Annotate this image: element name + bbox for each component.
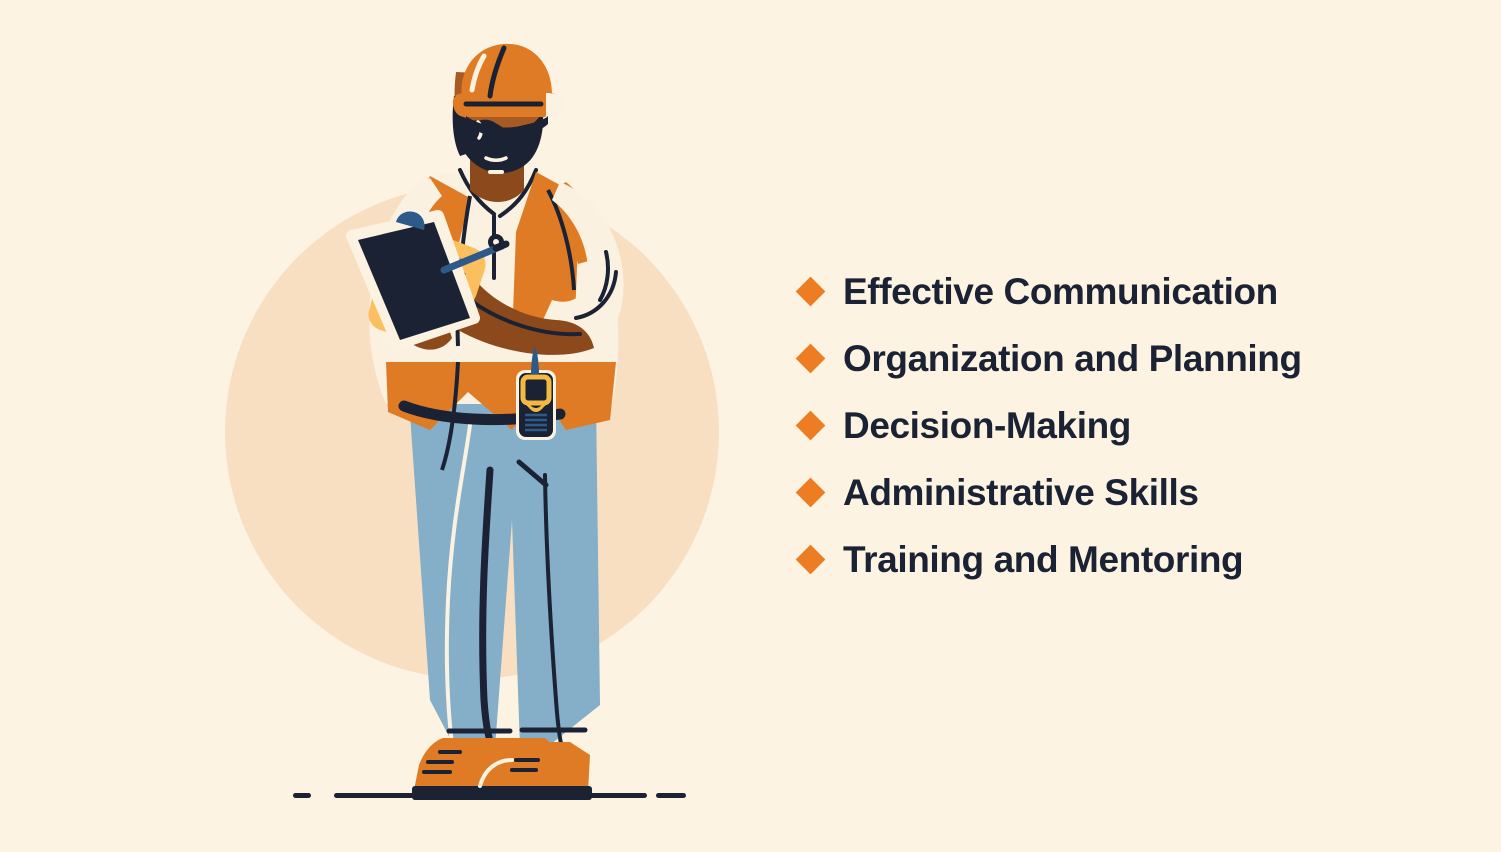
diamond-bullet-icon — [796, 478, 826, 508]
construction-supervisor-illustration — [0, 0, 760, 852]
skills-list: Effective Communication Organization and… — [800, 258, 1460, 593]
skill-label: Training and Mentoring — [843, 541, 1243, 578]
skill-label: Effective Communication — [843, 273, 1278, 310]
list-item[interactable]: Organization and Planning — [800, 325, 1460, 392]
diamond-bullet-icon — [796, 344, 826, 374]
work-boots — [412, 738, 592, 800]
list-item[interactable]: Training and Mentoring — [800, 526, 1460, 593]
list-item[interactable]: Administrative Skills — [800, 459, 1460, 526]
skill-label: Decision-Making — [843, 407, 1131, 444]
list-item[interactable]: Decision-Making — [800, 392, 1460, 459]
diamond-bullet-icon — [796, 545, 826, 575]
diamond-bullet-icon — [796, 411, 826, 441]
slide-canvas: Effective Communication Organization and… — [0, 0, 1501, 852]
skill-label: Organization and Planning — [843, 340, 1302, 377]
ground-line — [293, 793, 686, 798]
jeans — [409, 400, 600, 748]
skill-label: Administrative Skills — [843, 474, 1199, 511]
diamond-bullet-icon — [796, 277, 826, 307]
list-item[interactable]: Effective Communication — [800, 258, 1460, 325]
